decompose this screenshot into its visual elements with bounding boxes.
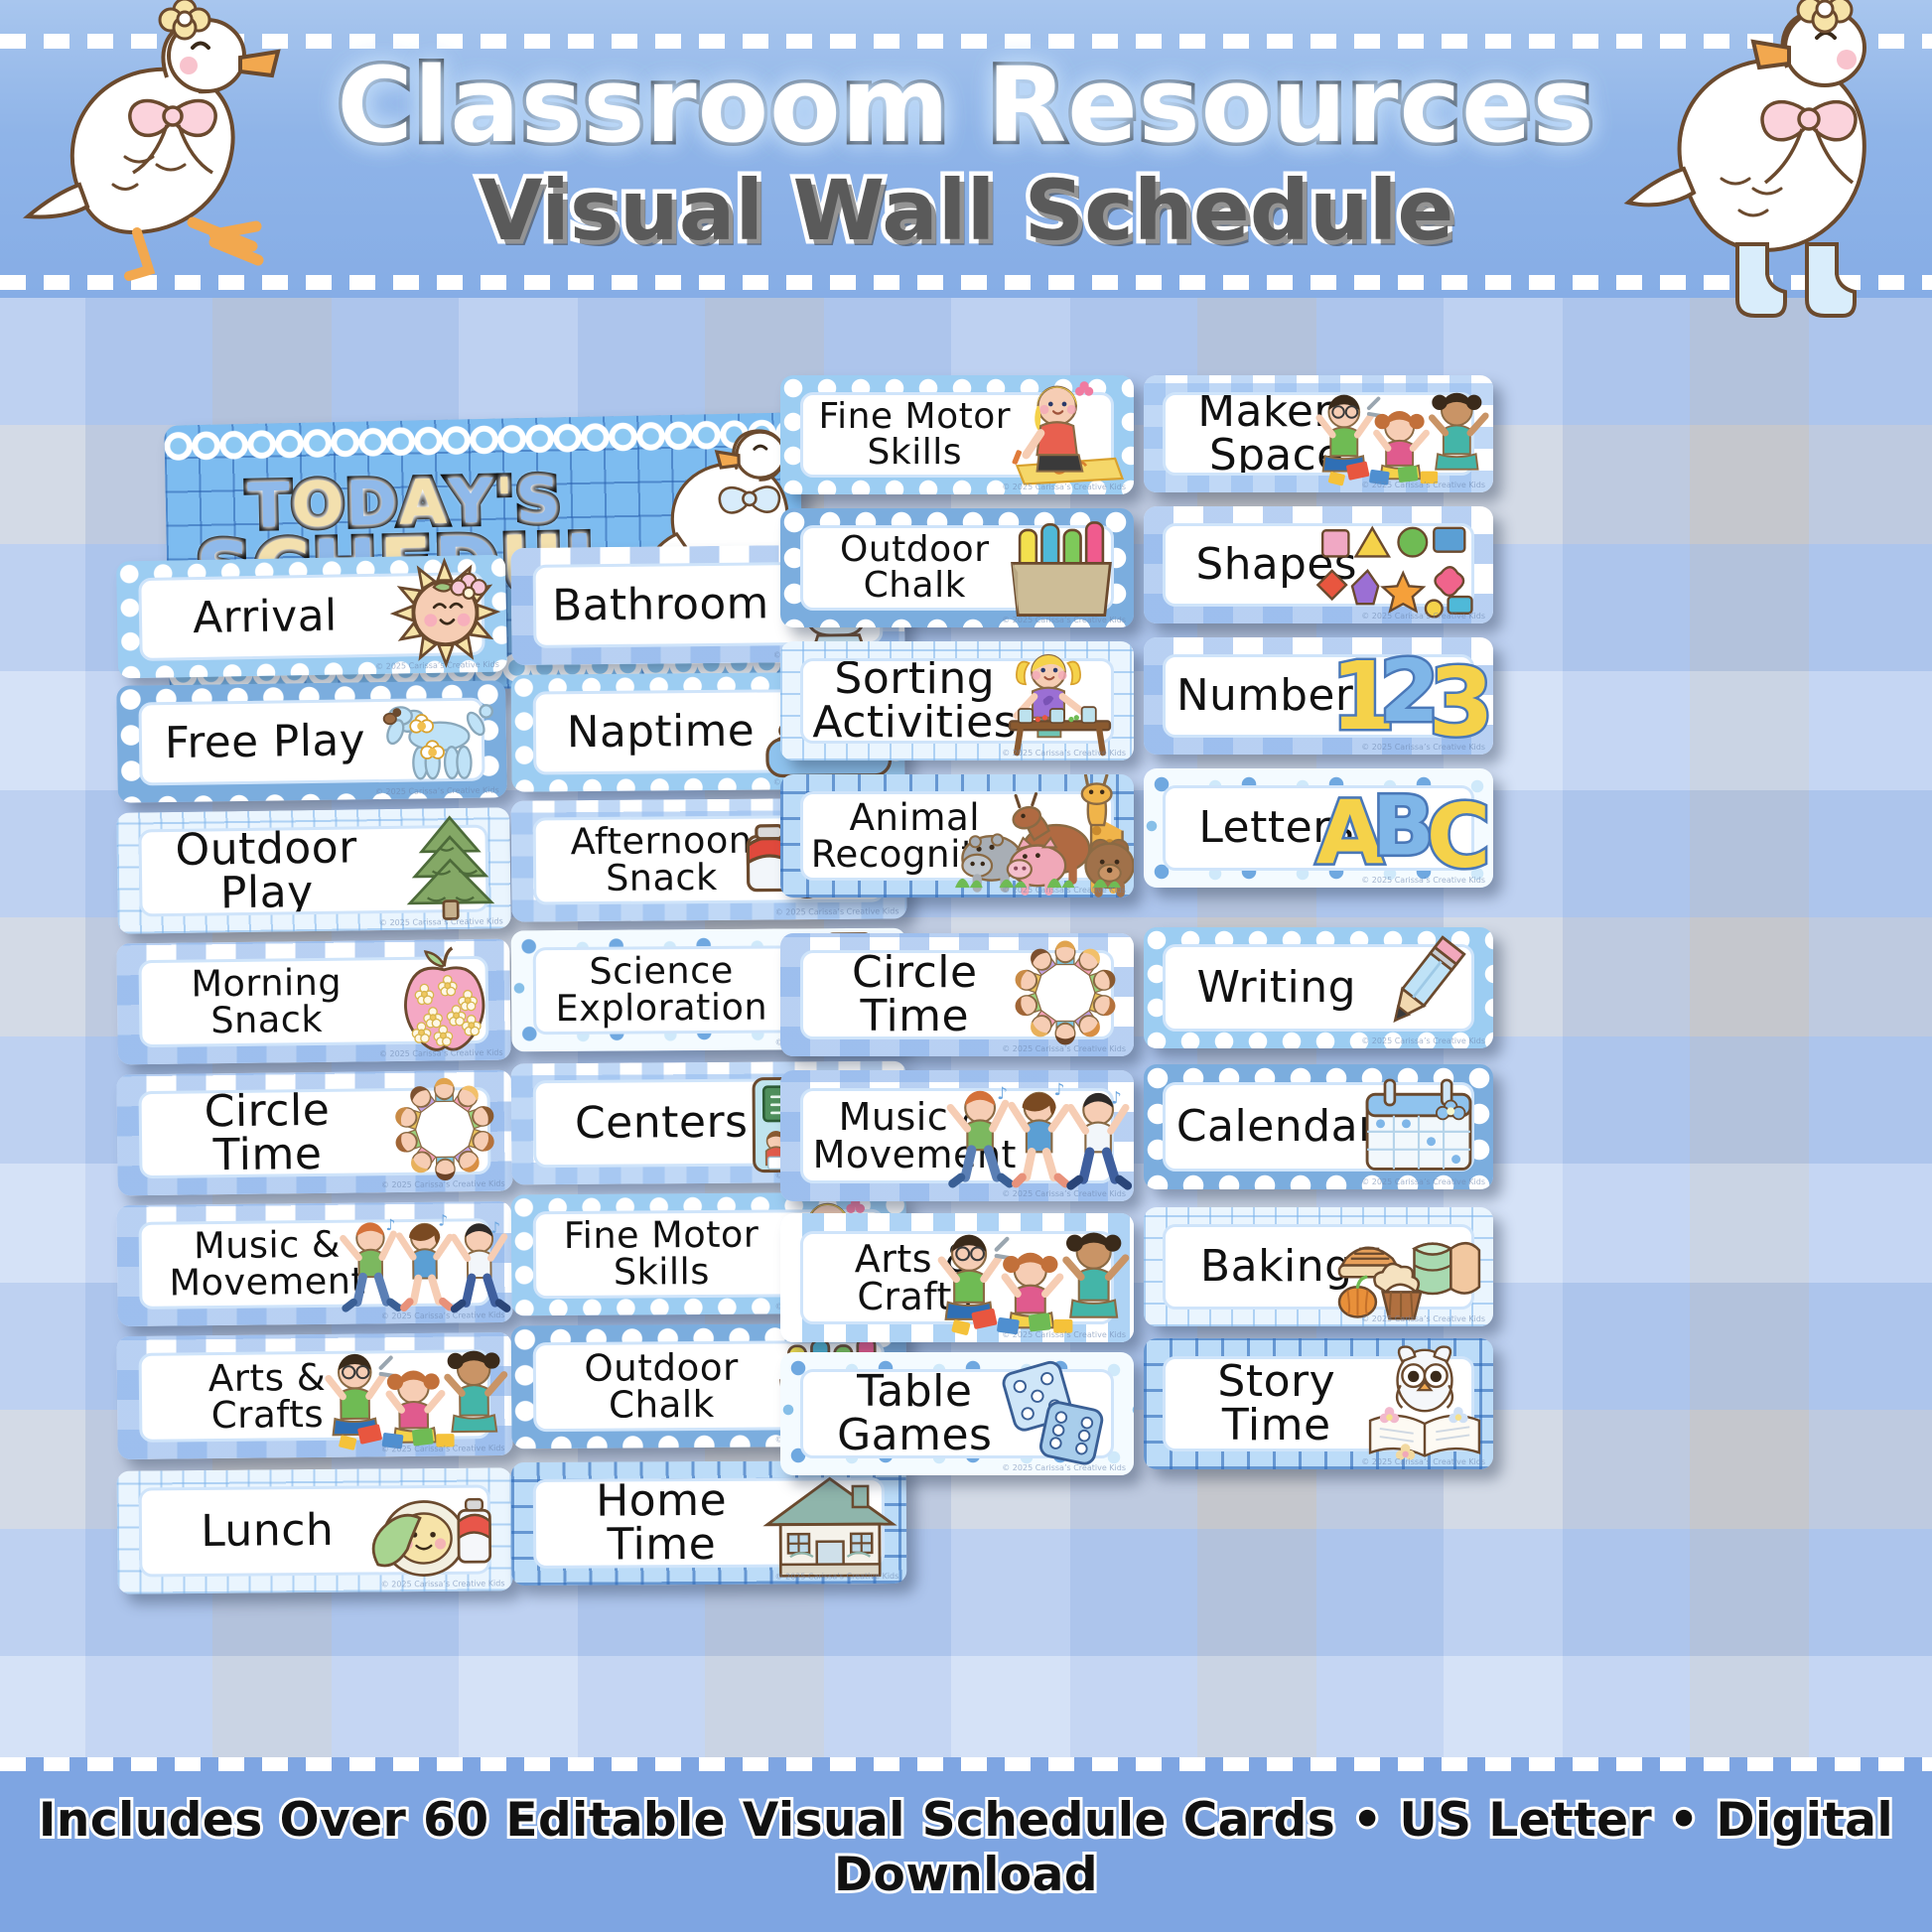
schedule-card[interactable]: Arts & Crafts <box>780 1213 1134 1342</box>
copyright-text: © 2025 Carissa’s Creative Kids <box>379 916 503 927</box>
card-label: Table Games <box>811 1370 1019 1457</box>
card-label: Circle Time <box>150 1088 384 1178</box>
copyright-text: © 2025 Carissa’s Creative Kids <box>1361 612 1485 621</box>
card-label: Science Exploration <box>555 953 767 1028</box>
copyright-text: © 2025 Carissa’s Creative Kids <box>1002 886 1126 895</box>
copyright-text: © 2025 Carissa’s Creative Kids <box>1002 749 1126 758</box>
card-label-plate: Arts & Crafts <box>139 1349 491 1443</box>
copyright-text: © 2025 Carissa’s Creative Kids <box>375 785 499 796</box>
card-label-plate: Makers Space <box>1163 392 1474 476</box>
card-label-plate: Morning Snack <box>138 956 488 1047</box>
copyright-text: © 2025 Carissa’s Creative Kids <box>1002 483 1126 491</box>
card-label-plate: Circle Time <box>138 1087 490 1178</box>
card-label: Circle Time <box>811 951 1019 1038</box>
schedule-card[interactable]: Circle Time <box>780 933 1134 1056</box>
card-label: Arrival <box>193 595 338 640</box>
schedule-card[interactable]: Shapes © 2025 Carissa’s Creative Kids <box>1144 506 1493 623</box>
card-label-plate: Table Games <box>800 1369 1114 1458</box>
card-label: Afternoon Snack <box>571 823 753 897</box>
copyright-text: © 2025 Carissa’s Creative Kids <box>381 1311 505 1320</box>
card-label: Baking <box>1200 1245 1353 1289</box>
schedule-card[interactable]: Makers Space <box>1144 375 1493 492</box>
copyright-text: © 2025 Carissa’s Creative Kids <box>775 906 899 916</box>
schedule-card[interactable]: Table Games © 2025 Carissa’s Creative Ki… <box>780 1352 1134 1475</box>
card-label: Free Play <box>165 719 366 764</box>
card-label: Arts & Crafts <box>855 1240 975 1315</box>
schedule-card[interactable]: Writing © 2025 Carissa’s Creative Kids <box>1144 927 1493 1048</box>
card-label-plate: Free Play <box>138 698 484 786</box>
card-label: Naptime <box>567 710 756 755</box>
card-label: Fine Motor Skills <box>564 1217 759 1292</box>
schedule-card[interactable]: Free Play © 2025 Carissa’s Creative Kids <box>116 680 507 802</box>
schedule-card[interactable]: Baking © 2025 Carissa’s Creative Kids <box>1144 1207 1493 1326</box>
schedule-card[interactable]: Sorting Activities © 2025 Carissa’s Crea… <box>780 641 1134 760</box>
card-label: Outdoor Chalk <box>840 532 989 604</box>
schedule-board: TODAY'S SCHEDULE © 2025 Carissa's Crea <box>0 298 1932 1757</box>
copyright-text: © 2025 Carissa’s Creative Kids <box>1361 743 1485 752</box>
footer-text: Includes Over 60 Editable Visual Schedul… <box>0 1793 1932 1902</box>
card-label: Music & Movement <box>813 1098 1017 1173</box>
card-label: Makers Space <box>1173 392 1380 476</box>
goose-with-flower-illustration <box>1620 2 1918 359</box>
card-label: Outdoor Chalk <box>584 1349 739 1424</box>
card-label-plate: Lunch <box>139 1484 491 1577</box>
copyright-text: © 2025 Carissa’s Creative Kids <box>1361 876 1485 885</box>
copyright-text: © 2025 Carissa’s Creative Kids <box>1361 1314 1485 1323</box>
schedule-card[interactable]: Morning Snack © 2025 Carissa’s Creative … <box>116 939 510 1065</box>
card-label-plate: Animal Recognition <box>800 791 1114 881</box>
schedule-card[interactable]: Music & Movement <box>116 1201 512 1326</box>
schedule-card[interactable]: Home Time © 2025 Carissa’s Creative Kids <box>511 1460 907 1586</box>
card-label: Morning Snack <box>191 965 342 1039</box>
schedule-card[interactable]: Arrival © 2025 Carissa’s Creative Kids <box>116 555 507 679</box>
copyright-text: © 2025 Carissa’s Creative Kids <box>381 1444 505 1453</box>
card-label: Music & Movement <box>169 1227 366 1302</box>
schedule-card[interactable]: Letters A B C © 2025 Carissa’s Creative … <box>1144 768 1493 888</box>
copyright-text: © 2025 Carissa’s Creative Kids <box>379 1048 503 1059</box>
copyright-text: © 2025 Carissa’s Creative Kids <box>1002 1044 1126 1053</box>
card-label-plate: Music & Movement <box>139 1218 491 1310</box>
copyright-text: © 2025 Carissa’s Creative Kids <box>1361 481 1485 489</box>
card-label: Letters <box>1198 806 1354 850</box>
card-label-plate: Writing <box>1163 944 1474 1032</box>
card-label-plate: Baking <box>1163 1224 1474 1310</box>
schedule-card[interactable]: Animal Recognition <box>780 774 1134 897</box>
card-label: Bathroom <box>552 583 769 628</box>
card-label-plate: Outdoor Play <box>138 825 488 917</box>
card-label: Numbers <box>1176 674 1377 718</box>
goose-with-bow-illustration <box>18 8 306 306</box>
copyright-text: © 2025 Carissa’s Creative Kids <box>381 1179 505 1190</box>
copyright-text: © 2025 Carissa’s Creative Kids <box>1361 1457 1485 1466</box>
copyright-text: © 2025 Carissa’s Creative Kids <box>1361 1177 1485 1186</box>
card-label-plate: Sorting Activities <box>800 658 1114 744</box>
schedule-card[interactable]: Numbers 1 2 3 © 2025 Carissa’s Creative … <box>1144 637 1493 755</box>
card-label: Calendar <box>1176 1105 1377 1149</box>
card-label-plate: Story Time <box>1163 1356 1474 1451</box>
card-label: Sorting Activities <box>811 658 1019 744</box>
schedule-card[interactable]: Circle Time <box>116 1070 512 1196</box>
card-label: Home Time <box>545 1479 778 1568</box>
card-label-plate: Home Time <box>533 1477 885 1569</box>
copyright-text: © 2025 Carissa’s Creative Kids <box>1002 1189 1126 1198</box>
copyright-text: © 2025 Carissa’s Creative Kids <box>1002 1463 1126 1472</box>
card-label: Shapes <box>1196 543 1357 587</box>
card-label-plate: Outdoor Chalk <box>800 525 1114 611</box>
card-label-plate: Arrival <box>138 572 484 661</box>
schedule-card[interactable]: Fine Motor Skills © 2025 Carissa’s Creat… <box>780 375 1134 494</box>
footer-banner: Includes Over 60 Editable Visual Schedul… <box>0 1757 1932 1932</box>
card-label-plate: Numbers <box>1163 654 1474 738</box>
card-label: Animal Recognition <box>811 799 1019 873</box>
dashed-line-footer <box>0 1757 1932 1771</box>
card-label-plate: Arts & Crafts <box>800 1231 1114 1324</box>
schedule-card[interactable]: Music & Movement <box>780 1070 1134 1201</box>
card-label-plate: Music & Movement <box>800 1088 1114 1183</box>
card-label: Story Time <box>1173 1360 1380 1448</box>
card-label: Writing <box>1196 966 1356 1010</box>
card-label-plate: Calendar <box>1163 1082 1474 1172</box>
copyright-text: © 2025 Carissa’s Creative Kids <box>1002 616 1126 624</box>
card-label: Outdoor Play <box>150 826 382 916</box>
card-label-plate: Fine Motor Skills <box>800 392 1114 478</box>
schedule-card[interactable]: Lunch © 2025 Carissa’s Creative Kids <box>116 1467 512 1593</box>
schedule-card[interactable]: Calendar © 2025 Carissa’s Creative Kids <box>1144 1064 1493 1189</box>
copyright-text: © 2025 Carissa’s Creative Kids <box>1002 1330 1126 1339</box>
card-label-plate: Letters <box>1163 785 1474 871</box>
schedule-card[interactable]: Story Time © 2 <box>1144 1338 1493 1469</box>
card-label: Centers <box>575 1101 749 1146</box>
card-label: Fine Motor Skills <box>819 399 1012 471</box>
copyright-text: © 2025 Carissa’s Creative Kids <box>381 1579 505 1588</box>
schedule-card[interactable]: Outdoor Chalk © 2025 Carissa’s Creative … <box>780 508 1134 627</box>
card-label-plate: Circle Time <box>800 950 1114 1039</box>
schedule-card[interactable]: Outdoor Play © 2025 Carissa’s Creative K… <box>116 807 511 934</box>
copyright-text: © 2025 Carissa’s Creative Kids <box>1361 1036 1485 1045</box>
schedule-card[interactable]: Arts & Crafts <box>116 1332 512 1459</box>
card-label: Lunch <box>201 1509 334 1554</box>
copyright-text: © 2025 Carissa’s Creative Kids <box>775 1572 899 1582</box>
card-label-plate: Shapes <box>1163 523 1474 607</box>
card-label: Arts & Crafts <box>208 1359 327 1435</box>
